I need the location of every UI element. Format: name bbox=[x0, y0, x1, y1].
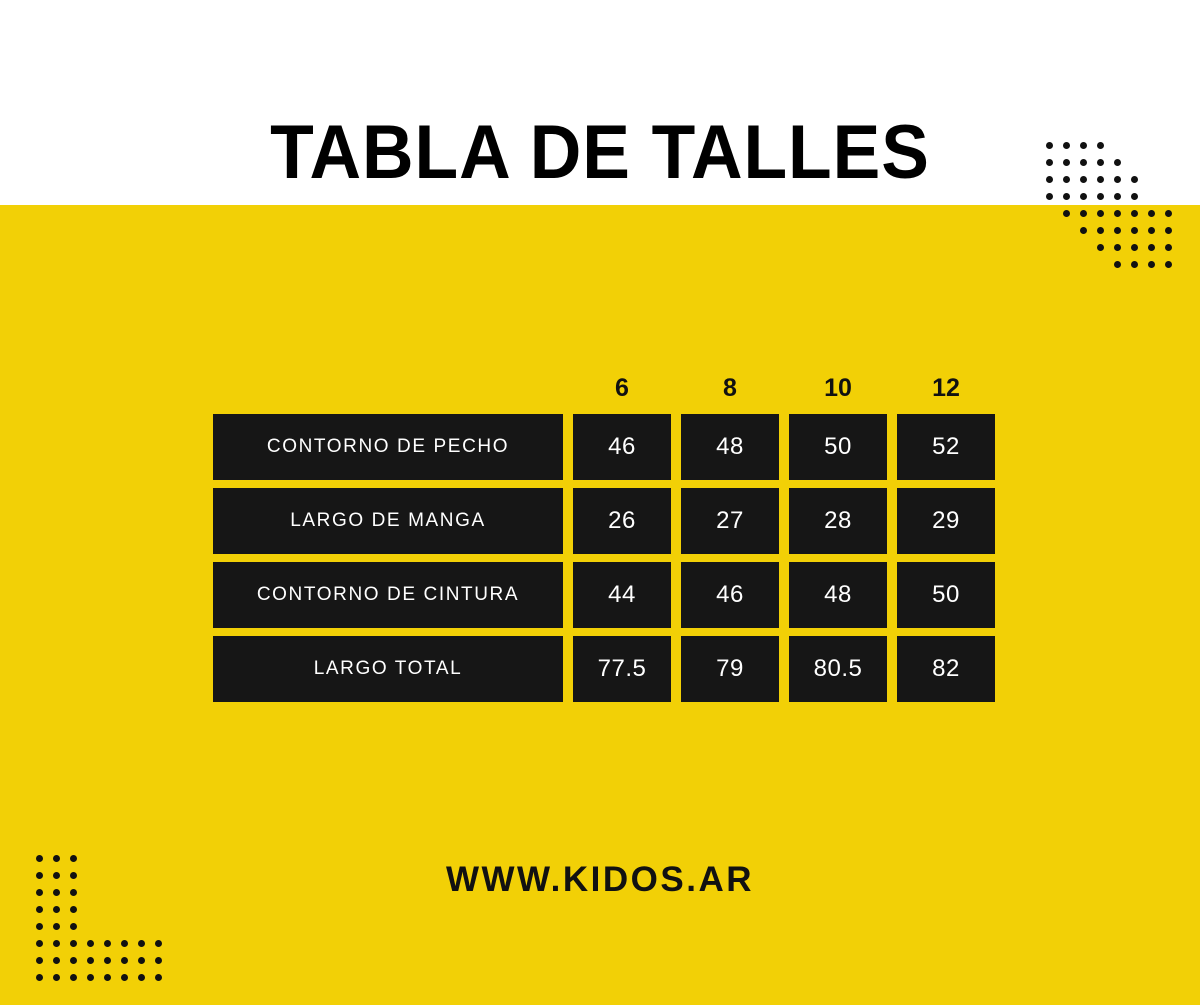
row-label: LARGO TOTAL bbox=[213, 636, 563, 702]
table-row: CONTORNO DE PECHO 46 48 50 52 bbox=[213, 414, 988, 480]
table-header-size-3: 12 bbox=[897, 376, 995, 401]
table-header-size-0: 6 bbox=[573, 376, 671, 401]
table-cell: 52 bbox=[897, 414, 995, 480]
table-cell: 80.5 bbox=[789, 636, 887, 702]
table-cell: 46 bbox=[573, 414, 671, 480]
table-cell: 48 bbox=[681, 414, 779, 480]
row-label: CONTORNO DE PECHO bbox=[213, 414, 563, 480]
table-cell: 82 bbox=[897, 636, 995, 702]
table-cell: 50 bbox=[897, 562, 995, 628]
page-title: TABLA DE TALLES bbox=[36, 51, 1164, 256]
table-cell: 29 bbox=[897, 488, 995, 554]
table-cell: 79 bbox=[681, 636, 779, 702]
table-cell: 77.5 bbox=[573, 636, 671, 702]
table-header-size-1: 8 bbox=[681, 376, 779, 401]
table-cell: 27 bbox=[681, 488, 779, 554]
table-cell: 48 bbox=[789, 562, 887, 628]
table-header-size-2: 10 bbox=[789, 376, 887, 401]
table-header-row: 6 8 10 12 bbox=[213, 362, 988, 414]
row-label: LARGO DE MANGA bbox=[213, 488, 563, 554]
table-cell: 44 bbox=[573, 562, 671, 628]
table-cell: 26 bbox=[573, 488, 671, 554]
table-cell: 28 bbox=[789, 488, 887, 554]
row-label: CONTORNO DE CINTURA bbox=[213, 562, 563, 628]
table-row: CONTORNO DE CINTURA 44 46 48 50 bbox=[213, 562, 988, 628]
footer-url: WWW.KIDOS.AR bbox=[0, 862, 1200, 897]
table-cell: 50 bbox=[789, 414, 887, 480]
size-chart-table: 6 8 10 12 CONTORNO DE PECHO 46 48 50 52 … bbox=[213, 362, 988, 702]
table-row: LARGO TOTAL 77.5 79 80.5 82 bbox=[213, 636, 988, 702]
table-cell: 46 bbox=[681, 562, 779, 628]
table-row: LARGO DE MANGA 26 27 28 29 bbox=[213, 488, 988, 554]
